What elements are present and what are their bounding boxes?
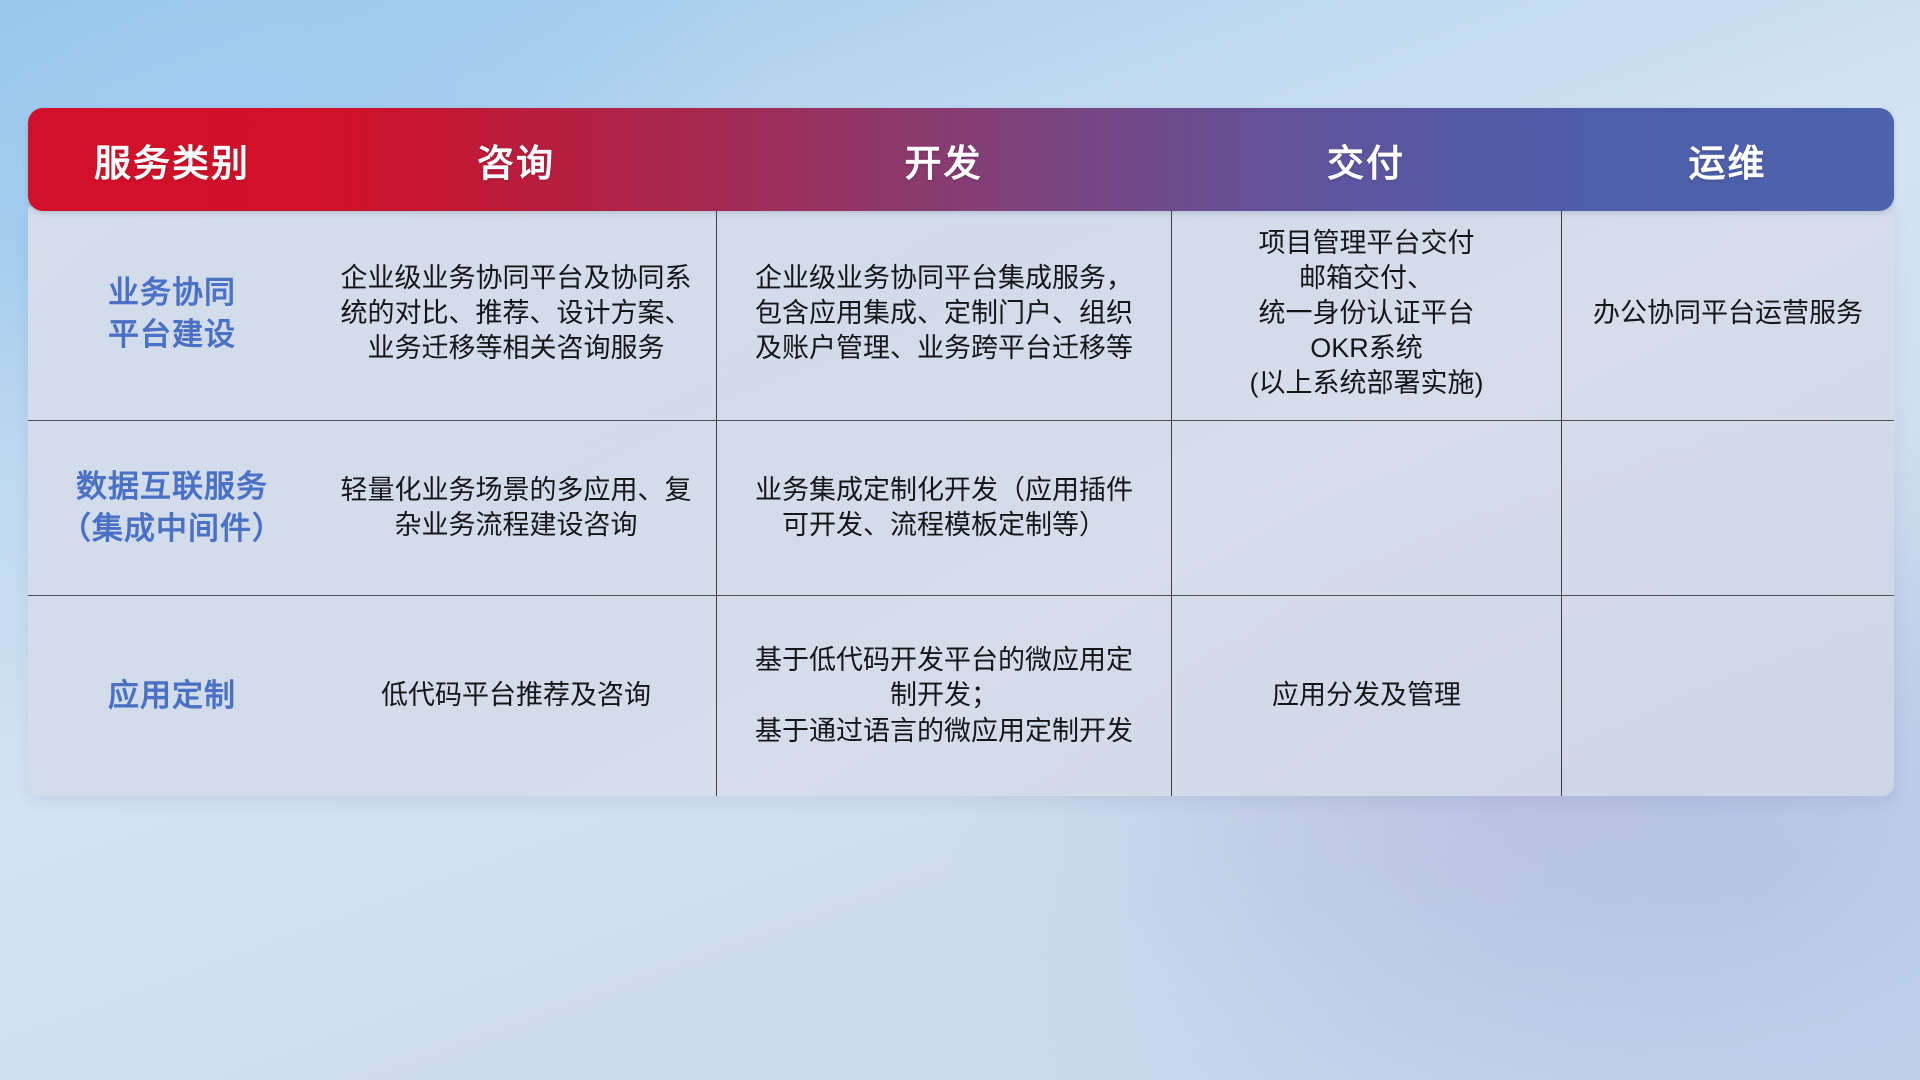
- table-header-row: 服务类别 咨询 开发 交付 运维: [28, 108, 1894, 211]
- table-row: 应用定制 低代码平台推荐及咨询 基于低代码开发平台的微应用定 制开发； 基于通过…: [28, 595, 1894, 796]
- row-category-label: 数据互联服务 （集成中间件）: [28, 421, 316, 595]
- column-header-consulting: 咨询: [316, 108, 716, 211]
- cell-operations: 办公协同平台运营服务: [1561, 207, 1894, 420]
- table-body: 业务协同 平台建设 企业级业务协同平台及协同系 统的对比、推荐、设计方案、 业务…: [28, 207, 1894, 796]
- cell-consulting: 低代码平台推荐及咨询: [316, 596, 716, 796]
- table-row: 数据互联服务 （集成中间件） 轻量化业务场景的多应用、复 杂业务流程建设咨询 业…: [28, 420, 1894, 595]
- table-row: 业务协同 平台建设 企业级业务协同平台及协同系 统的对比、推荐、设计方案、 业务…: [28, 207, 1894, 420]
- cell-operations: [1561, 596, 1894, 796]
- cell-consulting: 企业级业务协同平台及协同系 统的对比、推荐、设计方案、 业务迁移等相关咨询服务: [316, 207, 716, 420]
- cell-delivery: 应用分发及管理: [1171, 596, 1561, 796]
- column-header-service-category: 服务类别: [28, 108, 316, 211]
- cell-development: 基于低代码开发平台的微应用定 制开发； 基于通过语言的微应用定制开发: [716, 596, 1171, 796]
- cell-operations: [1561, 421, 1894, 595]
- column-header-delivery: 交付: [1171, 108, 1561, 211]
- cell-development: 业务集成定制化开发（应用插件 可开发、流程模板定制等）: [716, 421, 1171, 595]
- row-category-label: 业务协同 平台建设: [28, 207, 316, 420]
- cell-consulting: 轻量化业务场景的多应用、复 杂业务流程建设咨询: [316, 421, 716, 595]
- row-category-label: 应用定制: [28, 596, 316, 796]
- cell-development: 企业级业务协同平台集成服务， 包含应用集成、定制门户、组织 及账户管理、业务跨平…: [716, 207, 1171, 420]
- column-header-operations: 运维: [1561, 108, 1894, 211]
- cell-delivery: [1171, 421, 1561, 595]
- service-matrix-table: 服务类别 咨询 开发 交付 运维 业务协同 平台建设 企业级业务协同平台及协同系…: [28, 108, 1894, 796]
- cell-delivery: 项目管理平台交付 邮箱交付、 统一身份认证平台 OKR系统 (以上系统部署实施): [1171, 207, 1561, 420]
- column-header-development: 开发: [716, 108, 1171, 211]
